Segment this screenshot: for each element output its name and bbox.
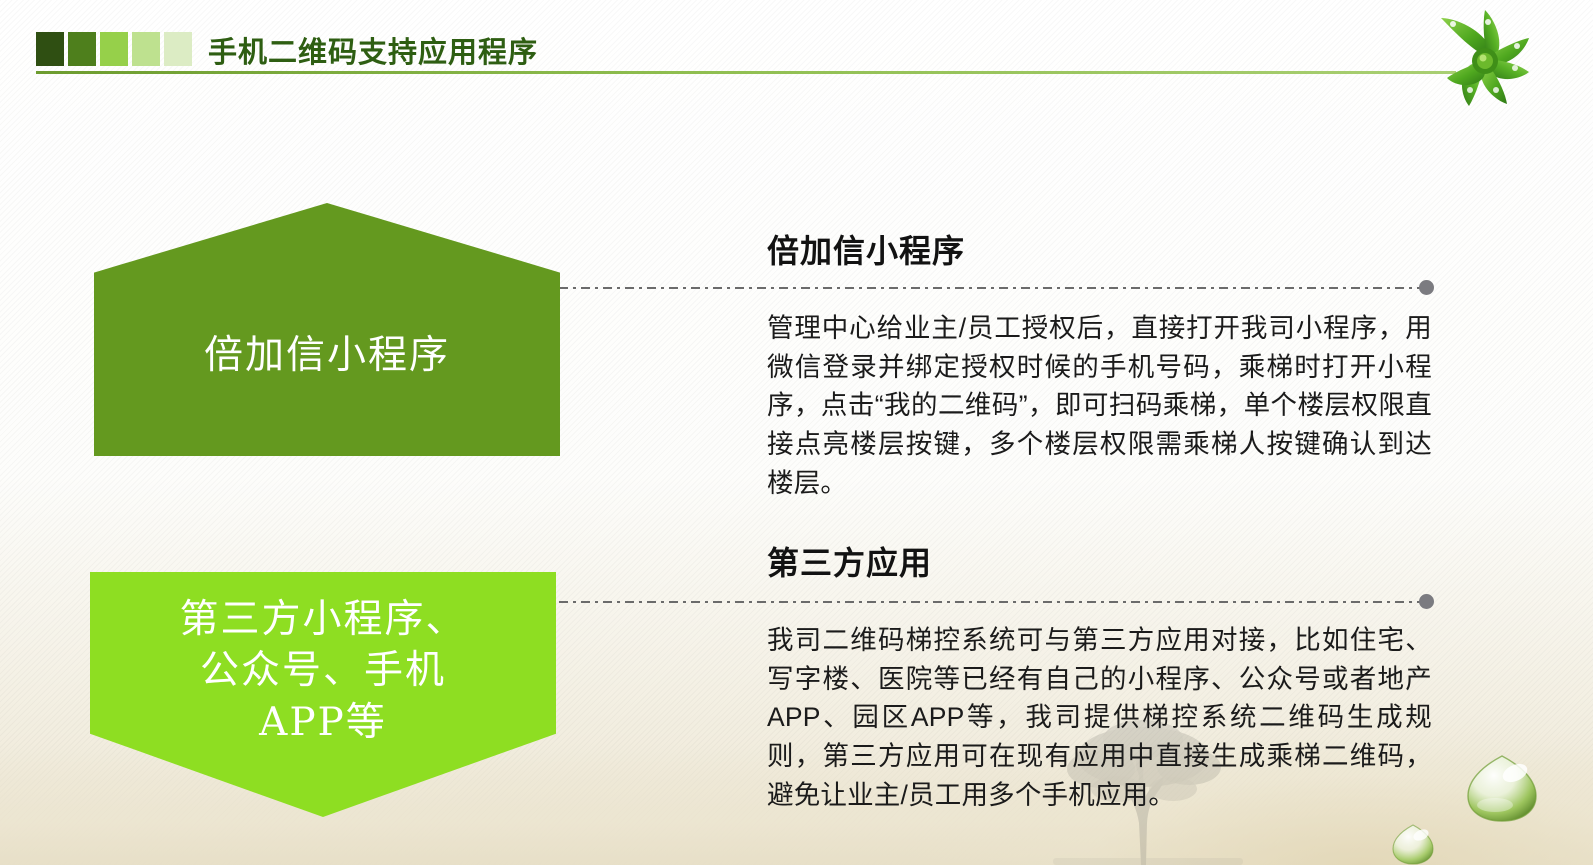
swatch-3	[100, 32, 128, 66]
leaf-cluster-icon	[1397, 0, 1577, 118]
water-drop-icon	[1391, 823, 1435, 865]
shape-beijiaxin-miniprogram[interactable]: 倍加信小程序	[94, 203, 560, 456]
shape-third-party[interactable]: 第三方小程序、 公众号、手机 APP等	[90, 572, 556, 817]
shape-beijiaxin-label: 倍加信小程序	[204, 278, 450, 381]
shape-third-party-line-3: APP等	[179, 697, 466, 748]
slide-canvas: 手机二维码支持应用程序	[0, 0, 1593, 865]
header-divider	[36, 71, 1456, 74]
swatch-2	[68, 32, 96, 66]
panel-third-party-title: 第三方应用	[767, 538, 1432, 584]
swatch-5	[164, 32, 192, 66]
shape-third-party-line-2: 公众号、手机	[179, 645, 466, 696]
panel-beijiaxin-body: 管理中心给业主/员工授权后，直接打开我司小程序，用微信登录并绑定授权时候的手机号…	[767, 309, 1432, 502]
water-drop-icon	[1465, 753, 1539, 823]
shape-third-party-line-1: 第三方小程序、	[179, 594, 466, 645]
page-title: 手机二维码支持应用程序	[208, 29, 538, 71]
panel-third-party-body: 我司二维码梯控系统可与第三方应用对接，比如住宅、写字楼、医院等已经有自己的小程序…	[767, 621, 1432, 814]
shape-third-party-label: 第三方小程序、 公众号、手机 APP等	[179, 572, 466, 748]
swatch-1	[36, 32, 64, 66]
panel-beijiaxin-miniprogram: 倍加信小程序 管理中心给业主/员工授权后，直接打开我司小程序，用微信登录并绑定授…	[767, 226, 1432, 502]
swatch-4	[132, 32, 160, 66]
panel-beijiaxin-title: 倍加信小程序	[767, 226, 1432, 272]
swatch-strip	[36, 32, 192, 66]
slide-header: 手机二维码支持应用程序	[0, 0, 1593, 96]
panel-third-party: 第三方应用 我司二维码梯控系统可与第三方应用对接，比如住宅、写字楼、医院等已经有…	[767, 538, 1432, 814]
